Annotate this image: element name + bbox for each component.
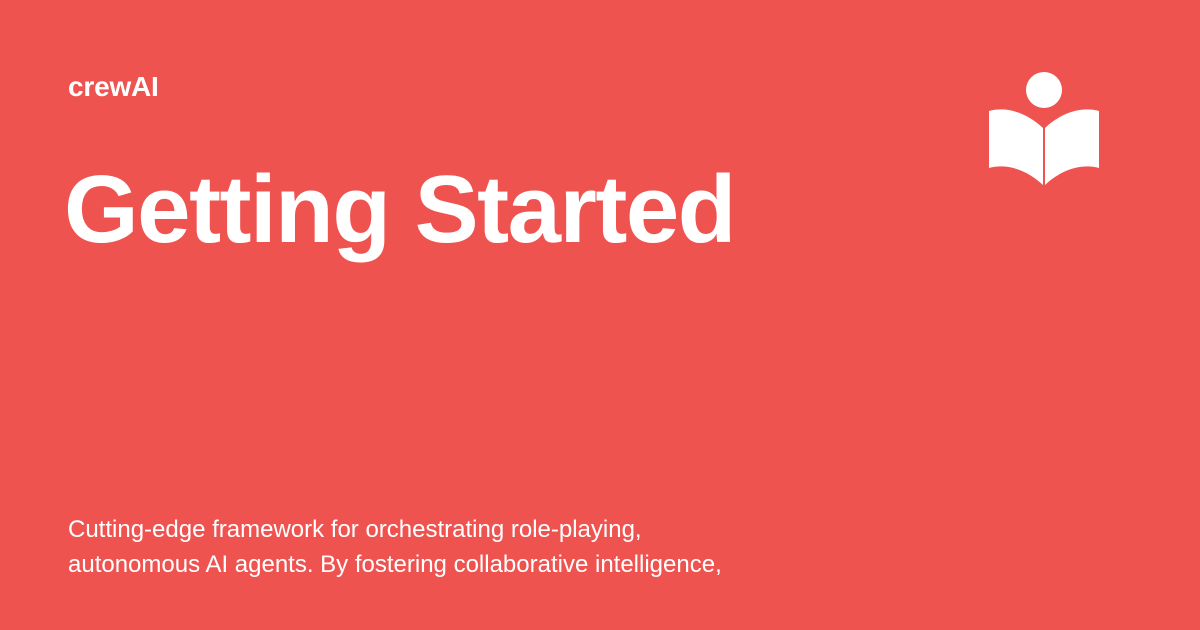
description-line-2: autonomous AI agents. By fostering colla… [68, 547, 908, 582]
description-line-1: Cutting-edge framework for orchestrating… [68, 512, 908, 547]
book-right-page [1045, 109, 1099, 185]
og-preview-card: crewAI Getting Started Cutting-edge fram… [0, 0, 1200, 630]
open-book-reader-icon [985, 68, 1103, 190]
brand-wordmark: crewAI [68, 70, 159, 104]
page-title: Getting Started [64, 158, 735, 262]
book-left-page [989, 109, 1043, 185]
page-description: Cutting-edge framework for orchestrating… [68, 512, 908, 582]
reader-head-circle [1026, 72, 1062, 108]
